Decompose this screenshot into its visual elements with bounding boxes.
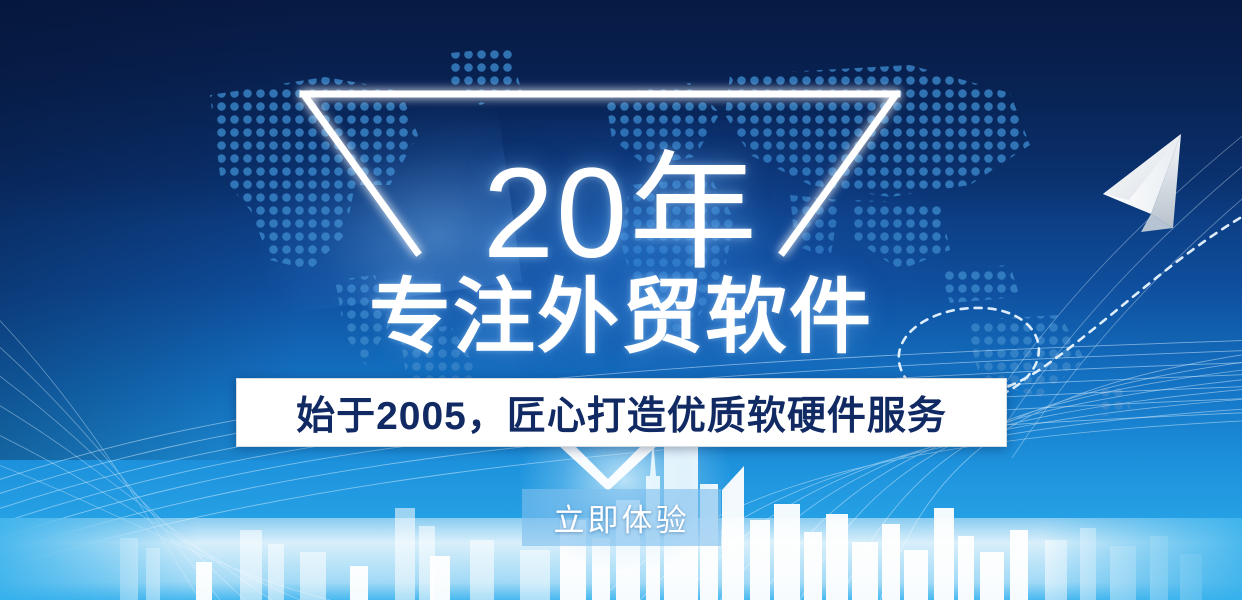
cta-button-label: 立即体验 — [554, 495, 690, 540]
chevron-down-icon — [556, 443, 660, 491]
headline-number: 20年 — [0, 150, 1242, 278]
promo-banner: 20年 专注外贸软件 始于2005，匠心打造优质软硬件服务 立即体验 — [0, 0, 1242, 600]
cta-button[interactable]: 立即体验 — [522, 489, 721, 546]
subtitle-text: 始于2005，匠心打造优质软硬件服务 — [296, 385, 947, 441]
headline-block: 20年 专注外贸软件 — [0, 150, 1242, 360]
headline-subtitle: 专注外贸软件 — [0, 276, 1242, 360]
subtitle-bar: 始于2005，匠心打造优质软硬件服务 — [236, 378, 1007, 447]
